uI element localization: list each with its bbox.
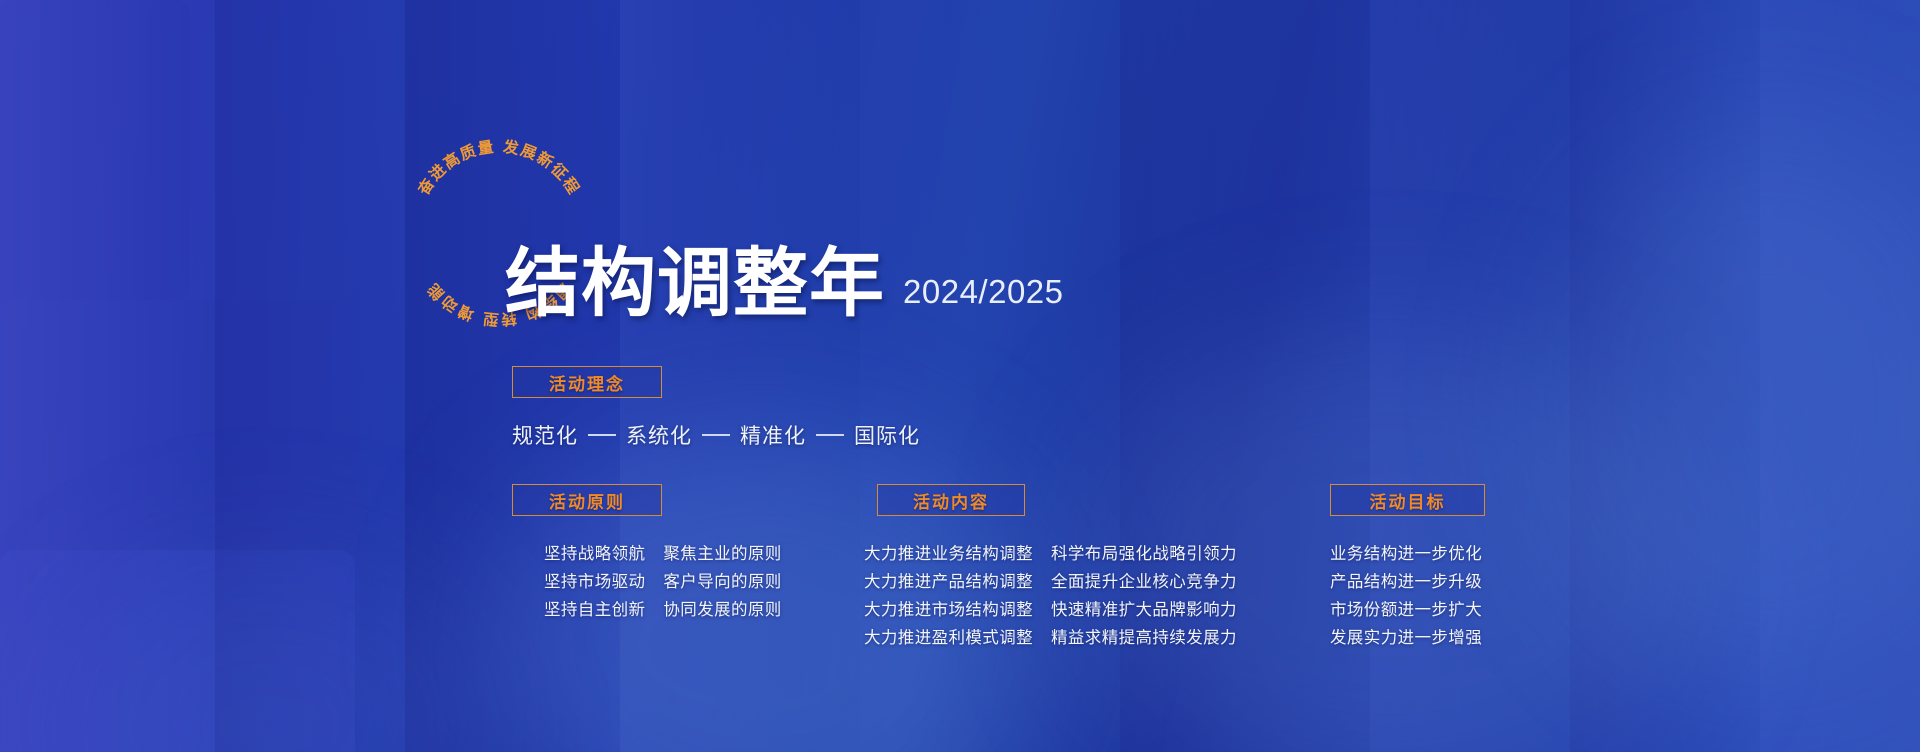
list-item: 发展实力进一步增强 — [1330, 622, 1482, 650]
decor-block-left-front — [0, 550, 355, 752]
tagline-separator — [588, 434, 616, 436]
list-item-primary: 市场份额进一步扩大 — [1330, 596, 1482, 620]
list-item-secondary: 精益求精提高持续发展力 — [1051, 624, 1237, 648]
list-item-secondary: 科学布局强化战略引领力 — [1051, 540, 1237, 564]
column-activity-goal: 业务结构进一步优化产品结构进一步升级市场份额进一步扩大发展实力进一步增强 — [1330, 538, 1482, 650]
list-item-primary: 业务结构进一步优化 — [1330, 540, 1482, 564]
list-item-secondary: 全面提升企业核心竞争力 — [1051, 568, 1237, 592]
bg-band-9 — [1760, 0, 1920, 752]
list-item: 市场份额进一步扩大 — [1330, 594, 1482, 622]
concept-tagline: 规范化系统化精准化国际化 — [512, 420, 920, 450]
list-item: 大力推进市场结构调整快速精准扩大品牌影响力 — [864, 594, 1237, 622]
badge-activity-principle: 活动原则 — [512, 484, 662, 516]
list-item-secondary: 快速精准扩大品牌影响力 — [1051, 596, 1237, 620]
list-item-primary: 大力推进业务结构调整 — [864, 540, 1033, 564]
badge-activity-content: 活动内容 — [877, 484, 1025, 516]
bg-band-8 — [1570, 0, 1760, 752]
list-item-primary: 大力推进市场结构调整 — [864, 596, 1033, 620]
badge-activity-concept: 活动理念 — [512, 366, 662, 398]
list-item: 坚持战略领航聚焦主业的原则 — [544, 538, 782, 566]
tagline-item: 精准化 — [740, 420, 806, 450]
page-title: 结构调整年 — [505, 248, 885, 319]
list-item: 大力推进业务结构调整科学布局强化战略引领力 — [864, 538, 1237, 566]
banner-root: 奋进高质量 发展新征程 调结构 转型 增动能 结构调整年 2024/2025 活… — [0, 0, 1920, 752]
tagline-separator — [816, 434, 844, 436]
list-item: 大力推进盈利模式调整精益求精提高持续发展力 — [864, 622, 1237, 650]
decor-block-tall — [0, 0, 190, 300]
list-item-secondary: 客户导向的原则 — [663, 568, 781, 592]
decor-block-left-back — [0, 300, 355, 550]
list-item: 业务结构进一步优化 — [1330, 538, 1482, 566]
bg-glow-right — [1540, 120, 1920, 680]
list-item-primary: 坚持战略领航 — [544, 540, 645, 564]
list-item: 产品结构进一步升级 — [1330, 566, 1482, 594]
tagline-item: 规范化 — [512, 420, 578, 450]
tagline-item: 国际化 — [854, 420, 920, 450]
seal-top-arc-text: 奋进高质量 发展新征程 — [413, 137, 583, 199]
list-item: 大力推进产品结构调整全面提升企业核心竞争力 — [864, 566, 1237, 594]
column-activity-principle: 坚持战略领航聚焦主业的原则坚持市场驱动客户导向的原则坚持自主创新协同发展的原则 — [544, 538, 782, 622]
list-item-primary: 坚持市场驱动 — [544, 568, 645, 592]
list-item: 坚持市场驱动客户导向的原则 — [544, 566, 782, 594]
badge-activity-goal: 活动目标 — [1330, 484, 1485, 516]
list-item-secondary: 聚焦主业的原则 — [663, 540, 781, 564]
tagline-item: 系统化 — [626, 420, 692, 450]
hero-title-row: 结构调整年 2024/2025 — [505, 248, 1064, 319]
tagline-separator — [702, 434, 730, 436]
list-item-secondary: 协同发展的原则 — [663, 596, 781, 620]
list-item: 坚持自主创新协同发展的原则 — [544, 594, 782, 622]
list-item-primary: 产品结构进一步升级 — [1330, 568, 1482, 592]
list-item-primary: 大力推进盈利模式调整 — [864, 624, 1033, 648]
list-item-primary: 大力推进产品结构调整 — [864, 568, 1033, 592]
hero-year-label: 2024/2025 — [903, 273, 1064, 311]
list-item-primary: 坚持自主创新 — [544, 596, 645, 620]
column-activity-content: 大力推进业务结构调整科学布局强化战略引领力大力推进产品结构调整全面提升企业核心竞… — [864, 538, 1237, 650]
list-item-primary: 发展实力进一步增强 — [1330, 624, 1482, 648]
